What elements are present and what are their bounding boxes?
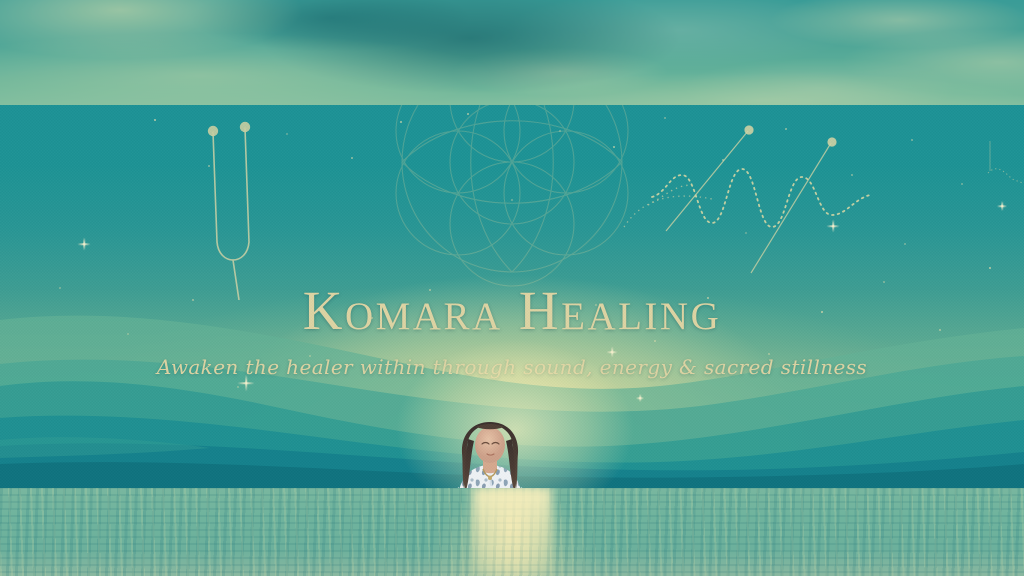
star-speck — [664, 117, 666, 119]
star-speck — [851, 174, 854, 177]
star-speck — [154, 119, 157, 122]
water-photo-layer — [0, 487, 1024, 576]
constellation-line-edge-icon — [960, 135, 1024, 225]
star-speck — [511, 199, 513, 201]
star-speck — [400, 121, 402, 123]
star-speck — [904, 243, 906, 245]
sparkle-icon — [827, 220, 840, 233]
star-speck — [613, 146, 616, 149]
star-speck — [785, 128, 787, 130]
banner-panel: Komara Healing Awaken the healer within … — [0, 105, 1024, 488]
meditating-woman-figure — [404, 421, 576, 488]
star-speck — [208, 165, 210, 167]
sparkle-icon — [78, 238, 91, 251]
page-title: Komara Healing — [0, 283, 1024, 338]
banner-canvas: Komara Healing Awaken the healer within … — [0, 0, 1024, 576]
dotted-arc-icon — [620, 165, 740, 245]
sky-photo-layer — [0, 0, 1024, 112]
star-speck — [722, 159, 724, 161]
star-speck — [559, 130, 561, 132]
constellation-line-left-icon — [660, 119, 780, 259]
star-speck — [467, 113, 469, 115]
star-speck — [745, 232, 747, 234]
star-speck — [911, 139, 913, 141]
brand-tagline: Awaken the healer within through sound, … — [0, 355, 1024, 379]
star-speck — [351, 157, 354, 160]
sparkle-icon — [997, 201, 1007, 211]
sound-wave-icon — [648, 127, 878, 267]
water-light-reflection — [472, 487, 552, 576]
star-speck — [961, 183, 963, 185]
star-speck — [286, 133, 288, 135]
